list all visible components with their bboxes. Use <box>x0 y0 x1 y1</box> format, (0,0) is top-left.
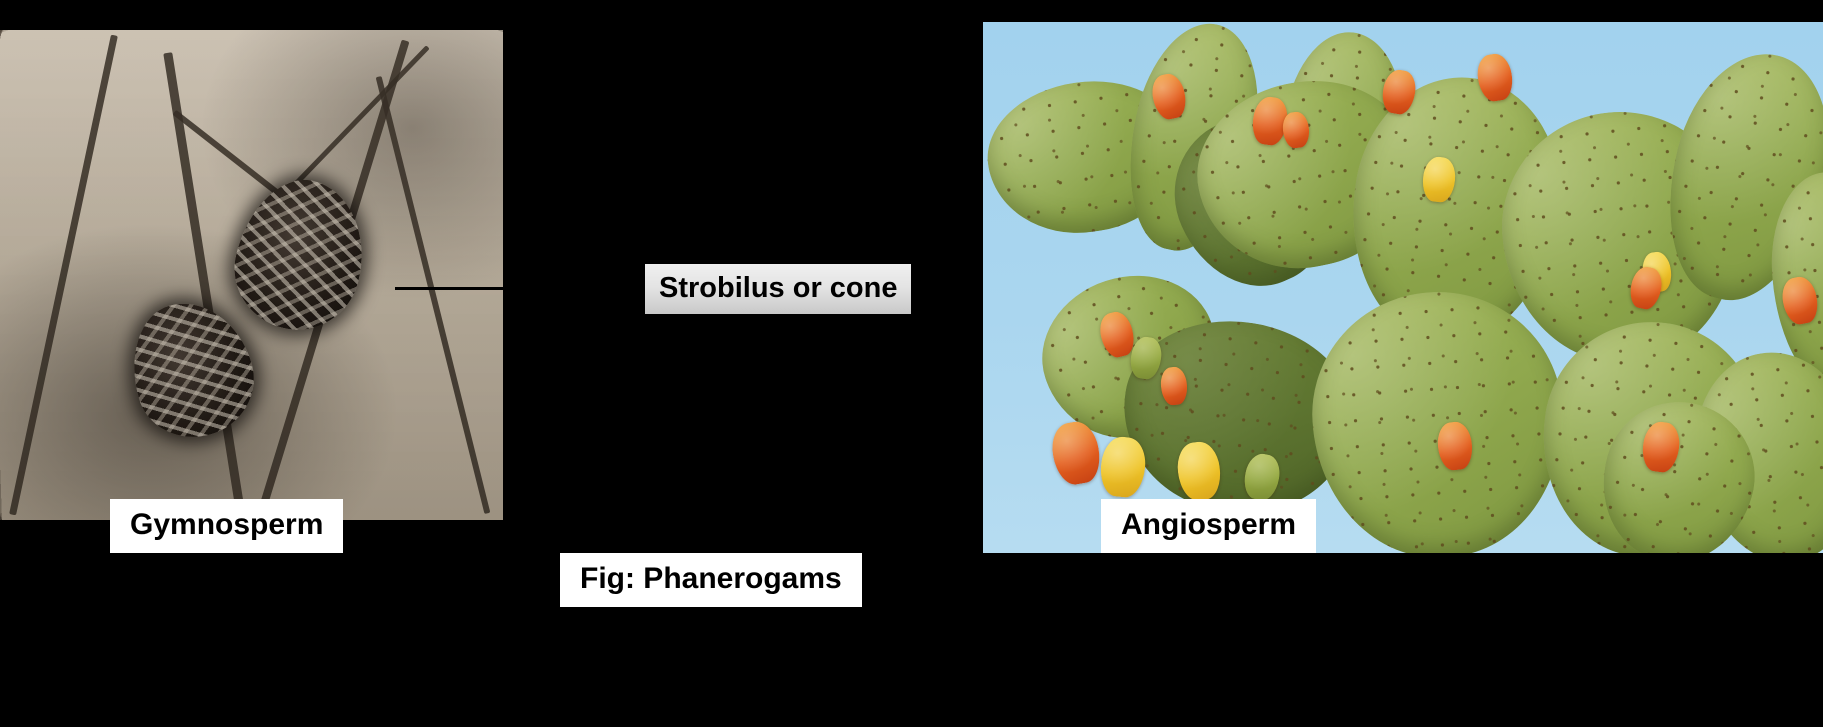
sepia-color-wash <box>0 30 503 520</box>
caption-figure-title: Fig: Phanerogams <box>560 553 862 607</box>
figure-canvas: Strobilus or cone Gymnosperm Angiosperm … <box>0 0 1823 727</box>
gymnosperm-photo <box>0 30 503 520</box>
angiosperm-photo <box>983 22 1823 553</box>
callout-strobilus-or-cone: Strobilus or cone <box>645 264 911 314</box>
caption-gymnosperm: Gymnosperm <box>110 499 343 553</box>
leader-line-strobilus <box>395 287 647 290</box>
caption-angiosperm: Angiosperm <box>1101 499 1316 553</box>
